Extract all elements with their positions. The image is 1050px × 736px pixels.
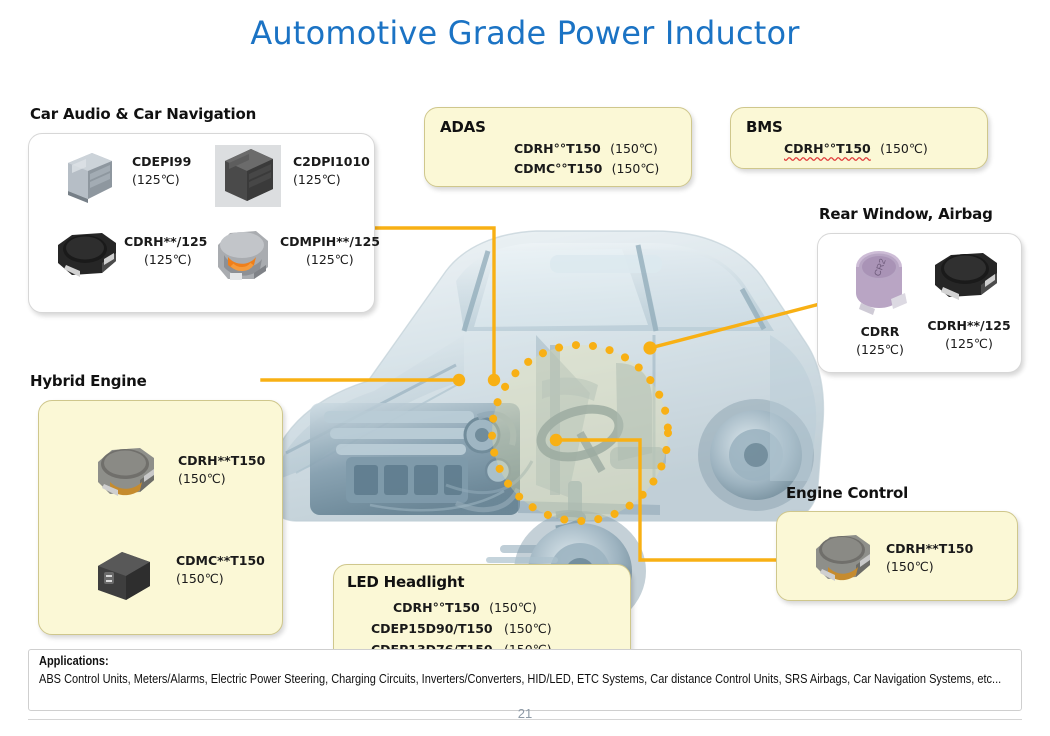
callout-title-led-headlight: LED Headlight [347,573,464,591]
part-temp: (150℃) [484,600,537,615]
part-label-cdmc-t150-hybrid: CDMC**T150 (150℃) [176,552,265,588]
callout-title-adas: ADAS [440,118,486,136]
part-image-inductor-dark-block [88,544,160,606]
callout-box-bms[interactable] [730,107,988,169]
part-name: CDEP15D90/T150 [371,621,493,636]
footer-divider [28,719,1022,720]
part-temp: (125℃) [837,341,923,359]
part-name: CDRH°°T150 [514,141,601,156]
applications-text: ABS Control Units, Meters/Alarms, Electr… [39,669,1008,689]
callout-line-led-1: CDRH°°T150 (150℃) [393,599,537,617]
part-temp: (125℃) [124,251,207,269]
applications-heading: Applications: [39,654,896,668]
part-name: CDRH**/125 [927,318,1010,333]
applications-panel: Applications: ABS Control Units, Meters/… [28,649,1022,711]
part-label-cdrh125-rear: CDRH**/125 (125℃) [921,317,1017,353]
callout-box-hybrid-engine[interactable] [38,400,283,635]
part-image-inductor-gray-round [90,442,162,504]
part-name: CDMPIH**/125 [280,234,380,249]
callout-line-led-2: CDEP15D90/T150 (150℃) [371,620,552,638]
part-label-cdrh-t150-engine: CDRH**T150 (150℃) [886,540,973,576]
part-temp: (150℃) [497,621,552,636]
part-temp: (125℃) [280,251,380,269]
callout-line-bms-1: CDRH°°T150 (150℃) [784,140,928,158]
part-temp: (150℃) [176,570,265,588]
callout-title-hybrid-engine: Hybrid Engine [30,372,147,390]
part-label-cdrh-t150-hybrid: CDRH**T150 (150℃) [178,452,265,488]
callout-title-engine-control: Engine Control [786,484,908,502]
part-label-cdrh125: CDRH**/125 (125℃) [124,233,207,269]
callout-title-bms: BMS [746,118,783,136]
part-image-inductor-black-round [50,227,122,285]
callout-line-adas-2: CDMC°°T150 (150℃) [514,160,659,178]
callout-line-adas-1: CDRH°°T150 (150℃) [514,140,658,158]
part-temp: (125℃) [921,335,1017,353]
part-temp: (150℃) [607,161,660,176]
part-image-inductor-silver-block [54,147,120,207]
part-name: CDRH**/125 [124,234,207,249]
part-image-inductor-gray-copper [210,225,276,287]
part-name: CDRH°°T150 [393,600,480,615]
part-label-cdmpih125: CDMPIH**/125 (125℃) [280,233,380,269]
part-temp: (150℃) [605,141,658,156]
part-temp: (150℃) [875,141,928,156]
part-temp: (125℃) [132,171,191,189]
part-image-inductor-black-round [927,247,1003,309]
part-image-capacitor-purple: CR2 [849,245,911,317]
part-label-cdrr: CDRR (125℃) [837,323,923,359]
part-name: CDRH**T150 [886,541,973,556]
callout-title-rear-window-airbag: Rear Window, Airbag [819,205,993,223]
part-name: CDRR [861,324,900,339]
part-image-inductor-dark-block [213,143,283,209]
part-label-c2dpi1010: C2DPI1010 (125℃) [293,153,370,189]
part-name: C2DPI1010 [293,154,370,169]
part-name: CDMC°°T150 [514,161,602,176]
part-temp: (125℃) [293,171,370,189]
part-name: CDRH**T150 [178,453,265,468]
part-image-inductor-gray-round [808,529,878,589]
part-name: CDRH°°T150 [784,141,871,156]
part-label-cdepi99: CDEPI99 (125℃) [132,153,191,189]
part-temp: (150℃) [178,470,265,488]
slide-canvas: Automotive Grade Power Inductor [0,0,1050,736]
callout-title-car-audio: Car Audio & Car Navigation [30,105,256,123]
page-title: Automotive Grade Power Inductor [0,14,1050,52]
part-name: CDMC**T150 [176,553,265,568]
part-name: CDEPI99 [132,154,191,169]
part-temp: (150℃) [886,558,973,576]
